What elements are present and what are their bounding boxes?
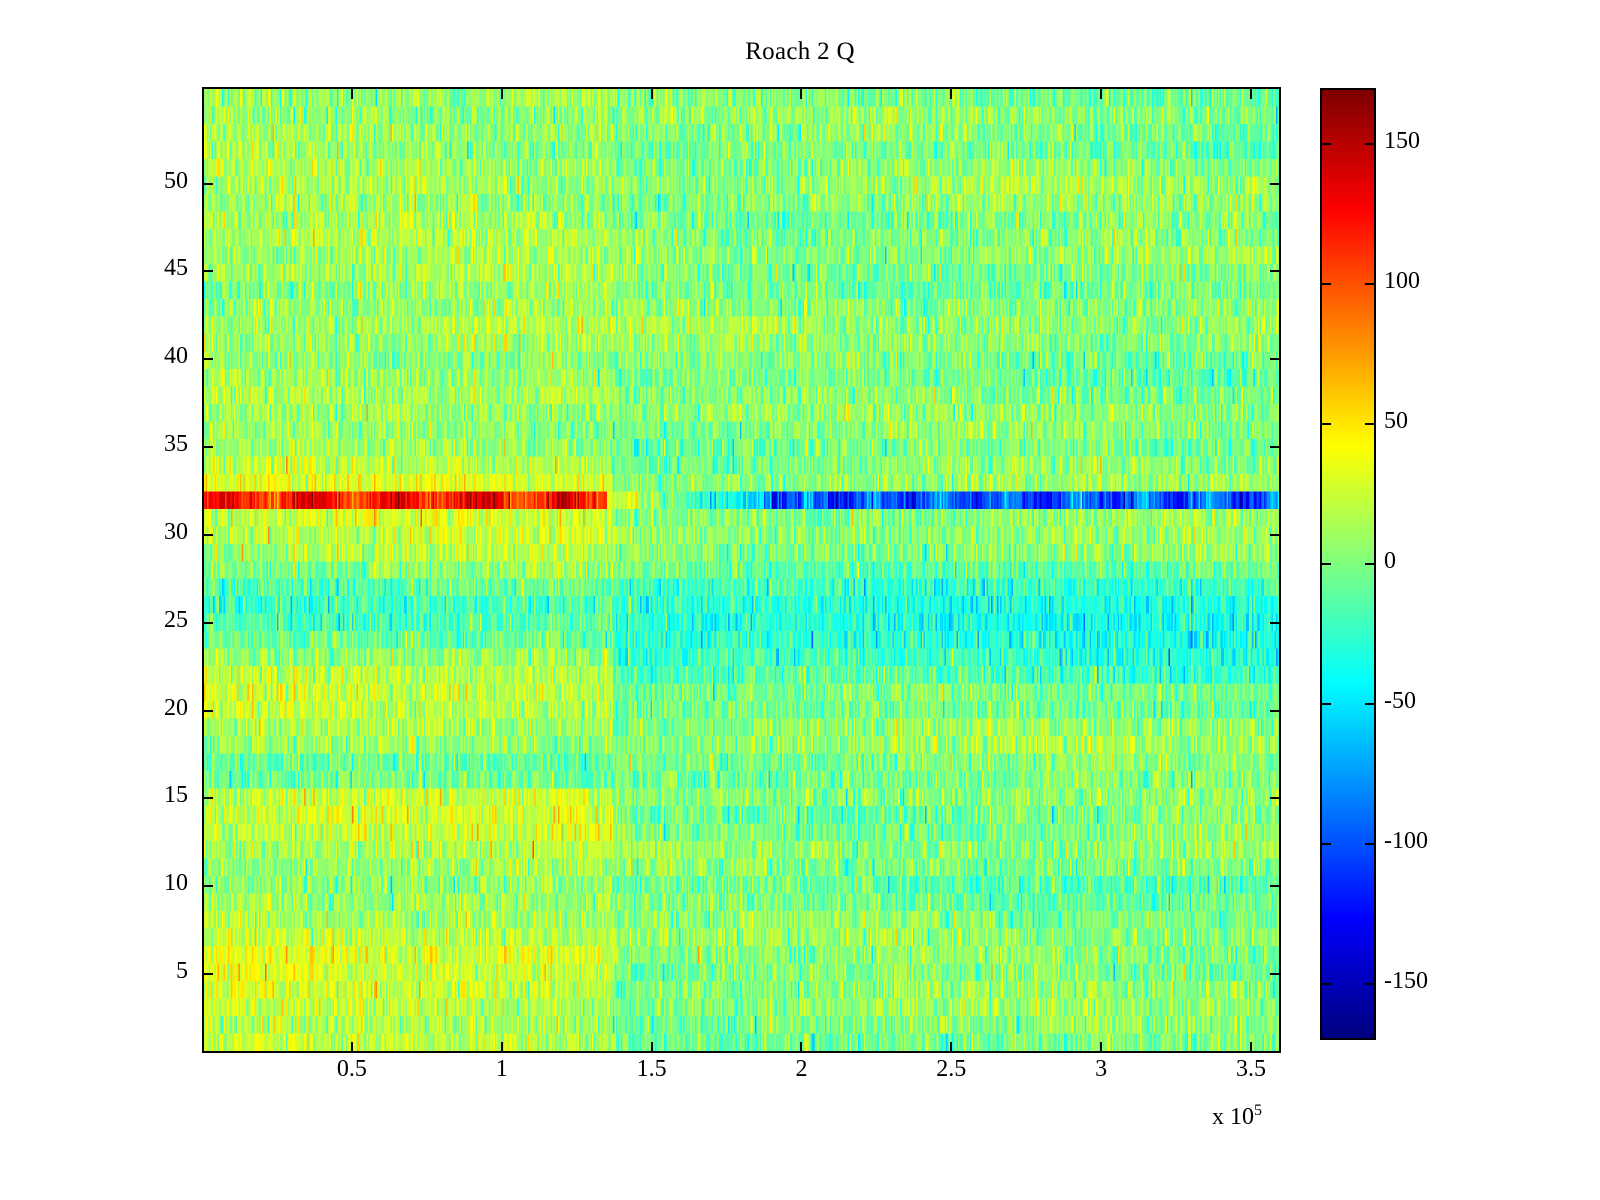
colorbar-tick bbox=[1365, 703, 1374, 705]
x-axis-tick bbox=[501, 1042, 503, 1053]
y-axis-tick bbox=[202, 622, 213, 624]
y-axis-tick-label: 50 bbox=[164, 168, 188, 195]
page-title: Roach 2 Q bbox=[0, 38, 1600, 66]
y-axis-tick-right bbox=[1270, 358, 1281, 360]
colorbar-tick-label: 100 bbox=[1384, 268, 1420, 295]
y-axis-tick-right bbox=[1270, 270, 1281, 272]
x-axis-tick-top bbox=[651, 88, 653, 99]
y-axis-tick-right bbox=[1270, 885, 1281, 887]
x-axis-tick-top bbox=[800, 88, 802, 99]
y-axis-tick-label: 10 bbox=[164, 870, 188, 897]
figure-root: Roach 2 Q 51015202530354045500.511.522.5… bbox=[0, 0, 1600, 1200]
colorbar-tick bbox=[1322, 283, 1331, 285]
colorbar-tick bbox=[1322, 423, 1331, 425]
y-axis-tick bbox=[202, 973, 213, 975]
colorbar-tick bbox=[1322, 983, 1331, 985]
heatmap-image[interactable] bbox=[204, 89, 1279, 1051]
y-axis-tick-label: 30 bbox=[164, 519, 188, 546]
colorbar-tick-label: -50 bbox=[1384, 688, 1416, 715]
x-axis-tick-label: 0.5 bbox=[337, 1056, 367, 1083]
x-axis-tick bbox=[800, 1042, 802, 1053]
x-axis-exponent-label: x 105 bbox=[1212, 1102, 1262, 1131]
y-axis-tick bbox=[202, 270, 213, 272]
x-axis-tick-label: 3 bbox=[1095, 1056, 1107, 1083]
x-axis-tick-top bbox=[351, 88, 353, 99]
x-axis-tick bbox=[1100, 1042, 1102, 1053]
x-exponent-mantissa: x 10 bbox=[1212, 1104, 1254, 1130]
colorbar-tick-label: 150 bbox=[1384, 128, 1420, 155]
heatmap-axes[interactable] bbox=[202, 87, 1281, 1053]
x-axis-tick-label: 1 bbox=[496, 1056, 508, 1083]
y-axis-tick-label: 25 bbox=[164, 607, 188, 634]
colorbar-tick-label: -100 bbox=[1384, 828, 1428, 855]
x-axis-tick-top bbox=[501, 88, 503, 99]
x-axis-tick bbox=[351, 1042, 353, 1053]
x-axis-tick-top bbox=[1250, 88, 1252, 99]
colorbar-tick bbox=[1365, 283, 1374, 285]
y-axis-tick bbox=[202, 446, 213, 448]
x-axis-tick bbox=[950, 1042, 952, 1053]
y-axis-tick-right bbox=[1270, 797, 1281, 799]
y-axis-tick-right bbox=[1270, 183, 1281, 185]
x-axis-tick-label: 1.5 bbox=[637, 1056, 667, 1083]
colorbar-tick bbox=[1322, 843, 1331, 845]
y-axis-tick bbox=[202, 885, 213, 887]
colorbar-tick bbox=[1365, 983, 1374, 985]
colorbar-tick bbox=[1322, 143, 1331, 145]
y-axis-tick-right bbox=[1270, 622, 1281, 624]
y-axis-tick-label: 15 bbox=[164, 782, 188, 809]
y-axis-tick-label: 45 bbox=[164, 255, 188, 282]
y-axis-tick-right bbox=[1270, 446, 1281, 448]
y-axis-tick bbox=[202, 797, 213, 799]
colorbar-tick bbox=[1365, 423, 1374, 425]
y-axis-tick bbox=[202, 710, 213, 712]
x-axis-tick-top bbox=[1100, 88, 1102, 99]
colorbar-tick-label: -150 bbox=[1384, 968, 1428, 995]
y-axis-tick bbox=[202, 534, 213, 536]
y-axis-tick bbox=[202, 183, 213, 185]
x-axis-tick-label: 3.5 bbox=[1236, 1056, 1266, 1083]
colorbar-tick bbox=[1365, 143, 1374, 145]
colorbar-tick bbox=[1322, 563, 1331, 565]
y-axis-tick-right bbox=[1270, 710, 1281, 712]
y-axis-tick bbox=[202, 358, 213, 360]
x-axis-tick-label: 2 bbox=[795, 1056, 807, 1083]
colorbar-tick bbox=[1322, 703, 1331, 705]
y-axis-tick-label: 35 bbox=[164, 431, 188, 458]
y-axis-tick-right bbox=[1270, 534, 1281, 536]
x-axis-tick bbox=[651, 1042, 653, 1053]
colorbar-tick bbox=[1365, 843, 1374, 845]
x-axis-tick-label: 2.5 bbox=[936, 1056, 966, 1083]
colorbar-tick-label: 0 bbox=[1384, 548, 1396, 575]
colorbar-tick-label: 50 bbox=[1384, 408, 1408, 435]
x-axis-tick-top bbox=[950, 88, 952, 99]
y-axis-tick-label: 40 bbox=[164, 343, 188, 370]
colorbar-tick bbox=[1365, 563, 1374, 565]
y-axis-tick-label: 5 bbox=[176, 958, 188, 985]
x-exponent-power: 5 bbox=[1254, 1102, 1262, 1119]
x-axis-tick bbox=[1250, 1042, 1252, 1053]
y-axis-tick-label: 20 bbox=[164, 695, 188, 722]
y-axis-tick-right bbox=[1270, 973, 1281, 975]
